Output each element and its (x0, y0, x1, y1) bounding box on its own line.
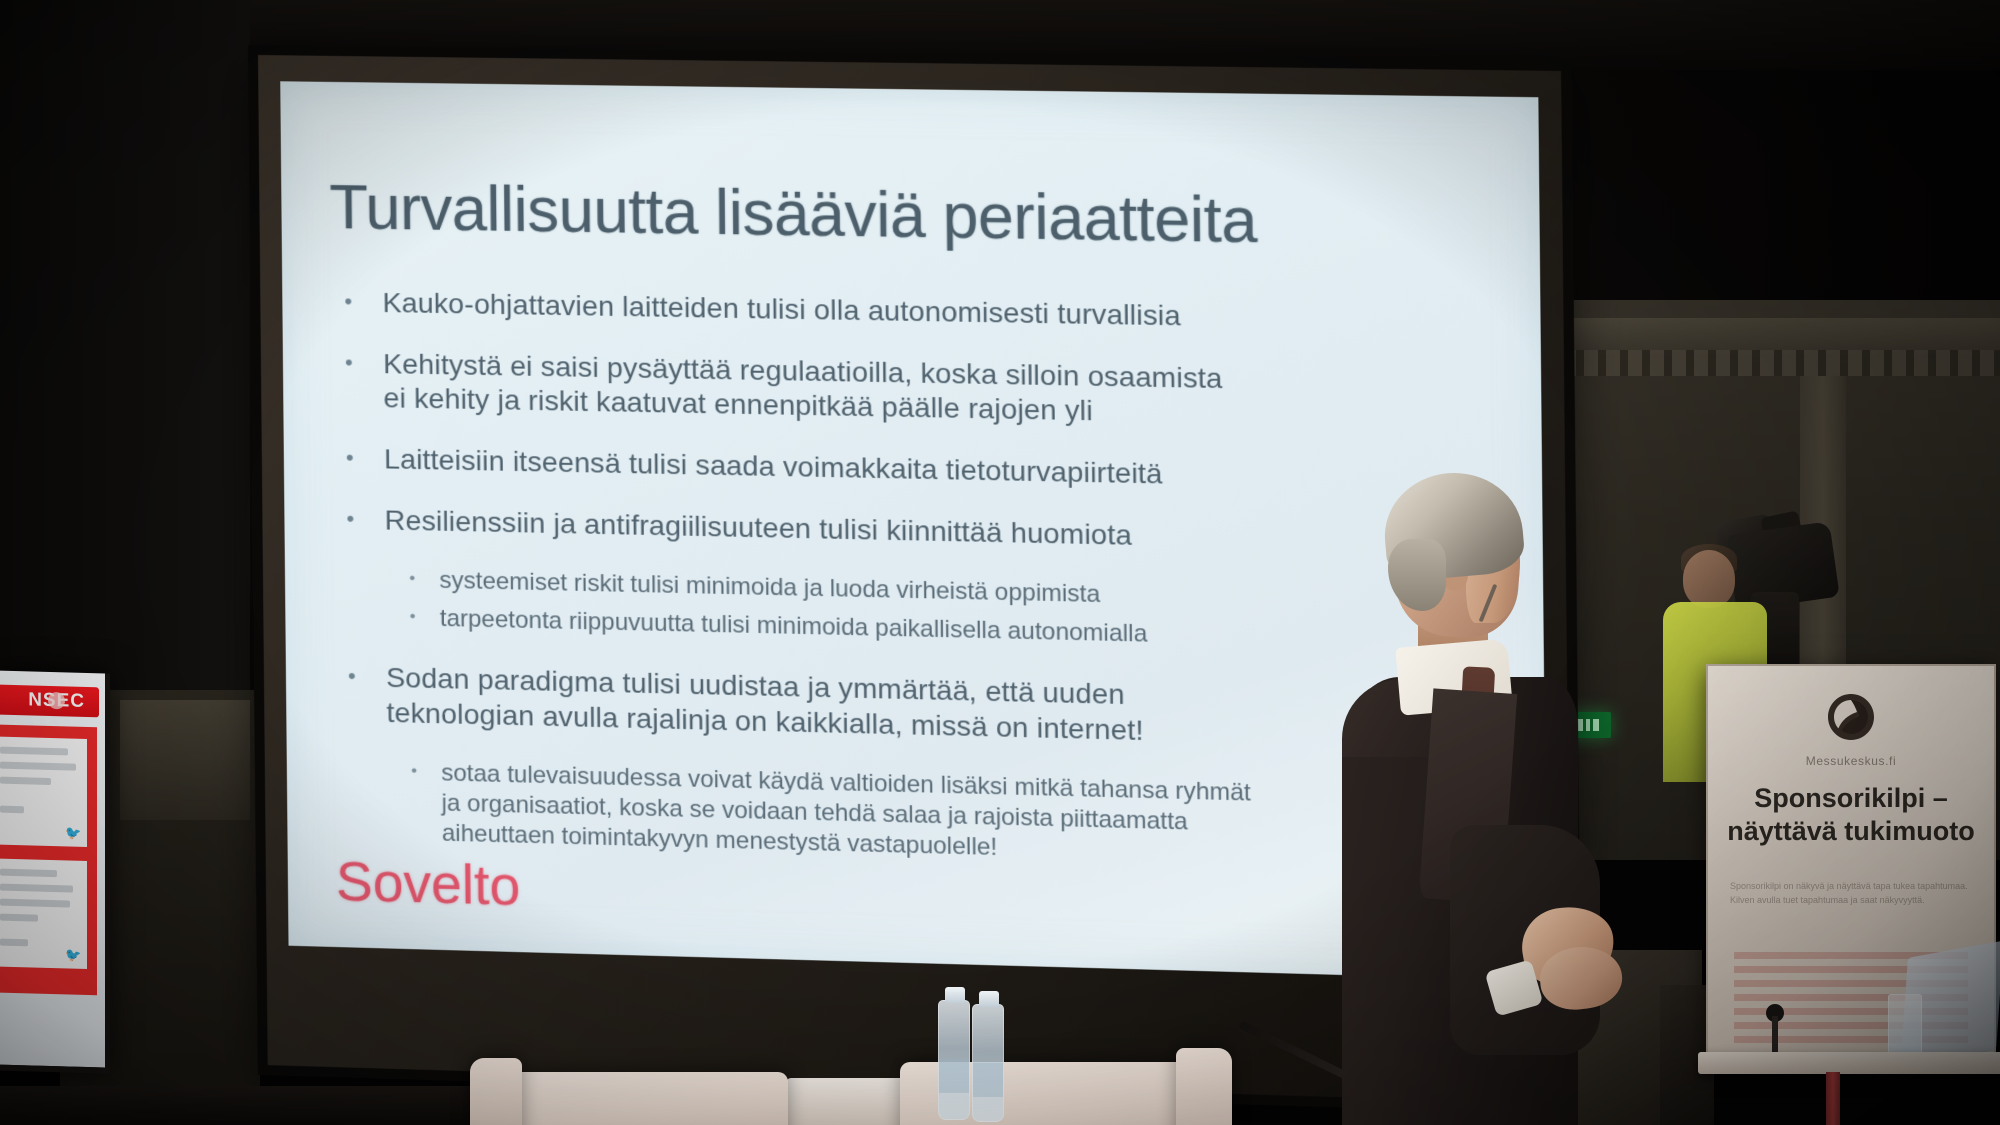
bottle-cap (979, 991, 999, 1007)
social-wall-logo-icon (48, 692, 65, 709)
sub-bullet-marker-icon: • (411, 757, 441, 783)
sponsor-sign-title-line-2: näyttävä tukimuoto (1727, 816, 1975, 846)
bullet-marker-icon: • (345, 346, 383, 379)
bottle-cap (945, 987, 965, 1003)
sponsor-sign-title-line-1: Sponsorikilpi – (1754, 783, 1948, 813)
operator-head (1683, 550, 1735, 608)
messukeskus-logo-icon (1824, 690, 1878, 744)
slide-title: Turvallisuutta lisääviä periaatteita (329, 174, 1504, 259)
back-wall-left (0, 0, 250, 700)
armchair-right-armrest (1176, 1048, 1232, 1125)
sponsor-sign-title: Sponsorikilpi – näyttävä tukimuoto (1720, 782, 1982, 848)
water-bottle (938, 1000, 970, 1120)
sponsor-sign-body-text: Sponsorikilpi on näkyvä ja näyttävä tapa… (1730, 880, 1972, 907)
podium-table-top (1698, 1052, 2000, 1074)
water-bottle (972, 1004, 1004, 1122)
wall-cornice (1540, 318, 2000, 354)
bottle-label (939, 1059, 969, 1093)
bullet-marker-icon: • (346, 503, 384, 536)
sub-bullet-marker-icon: • (410, 603, 440, 629)
bullet-line: Kauko-ohjattavien laitteiden tulisi olla… (382, 286, 1505, 340)
twitter-bird-icon: 🐦 (65, 948, 79, 960)
water-glass (1888, 994, 1922, 1058)
bullet-item: • Kauko-ohjattavien laitteiden tulisi ol… (344, 285, 1505, 339)
presenter-hair-back (1388, 539, 1446, 611)
social-wall-body: 🐦 🐦 (0, 724, 97, 995)
podium-leg (1826, 1072, 1840, 1125)
conference-hall-photo: Turvallisuutta lisääviä periaatteita • K… (0, 0, 2000, 1125)
sub-bullet-line: systeemiset riskit tulisi minimoida ja l… (439, 565, 1100, 610)
bottle-label (973, 1063, 1003, 1097)
social-wall-screen: NSEC 🐦 🐦 (0, 670, 110, 1073)
social-wall-header: NSEC (0, 684, 99, 717)
armchair-left-armrest (470, 1058, 522, 1125)
sub-bullet-marker-icon: • (409, 565, 439, 591)
bullet-marker-icon: • (344, 285, 382, 318)
wall-dentil-molding (1540, 350, 2000, 376)
bullet-marker-icon: • (348, 660, 386, 693)
social-wall-card: 🐦 (0, 736, 87, 847)
sponsor-sign-logo-caption: Messukeskus.fi (1708, 754, 1994, 768)
sovelto-logo: Sovelto (336, 849, 521, 918)
social-wall-card: 🐦 (0, 858, 87, 969)
bullet-item: • Kehitystä ei saisi pysäyttää regulaati… (345, 346, 1506, 437)
twitter-bird-icon: 🐦 (65, 826, 79, 838)
stage-side-block-lit (120, 700, 250, 820)
podium-with-sponsor-sign: Messukeskus.fi Sponsorikilpi – näyttävä … (1706, 664, 2000, 1125)
bullet-marker-icon: • (346, 442, 384, 475)
presenter (1290, 455, 1650, 1125)
